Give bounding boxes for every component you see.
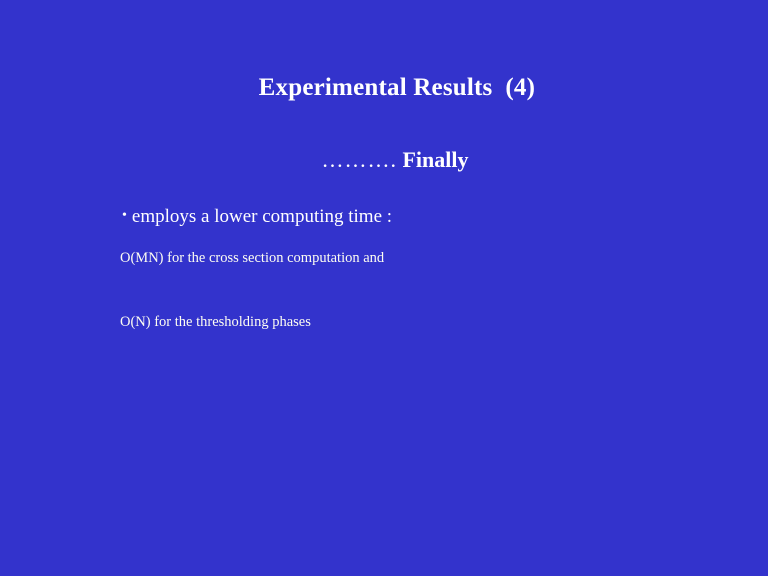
presentation-slide: Experimental Results (4) ………. Finally •e… (0, 0, 768, 576)
bullet-item-label: employs a lower computing time : (132, 206, 392, 227)
sub-bullet-line: O(N) for the thresholding phases (120, 312, 311, 332)
bullet-item: •employs a lower computing time : (103, 177, 392, 256)
slide-title-gap (493, 74, 506, 101)
slide-title-index: (4) (505, 74, 535, 101)
bullet-marker-icon: • (122, 208, 127, 223)
subtitle-word: Finally (402, 147, 468, 172)
slide-title-main: Experimental Results (259, 74, 493, 101)
sub-bullet-line: O(MN) for the cross section computation … (120, 248, 384, 268)
subtitle-ellipsis: ………. (321, 147, 397, 172)
